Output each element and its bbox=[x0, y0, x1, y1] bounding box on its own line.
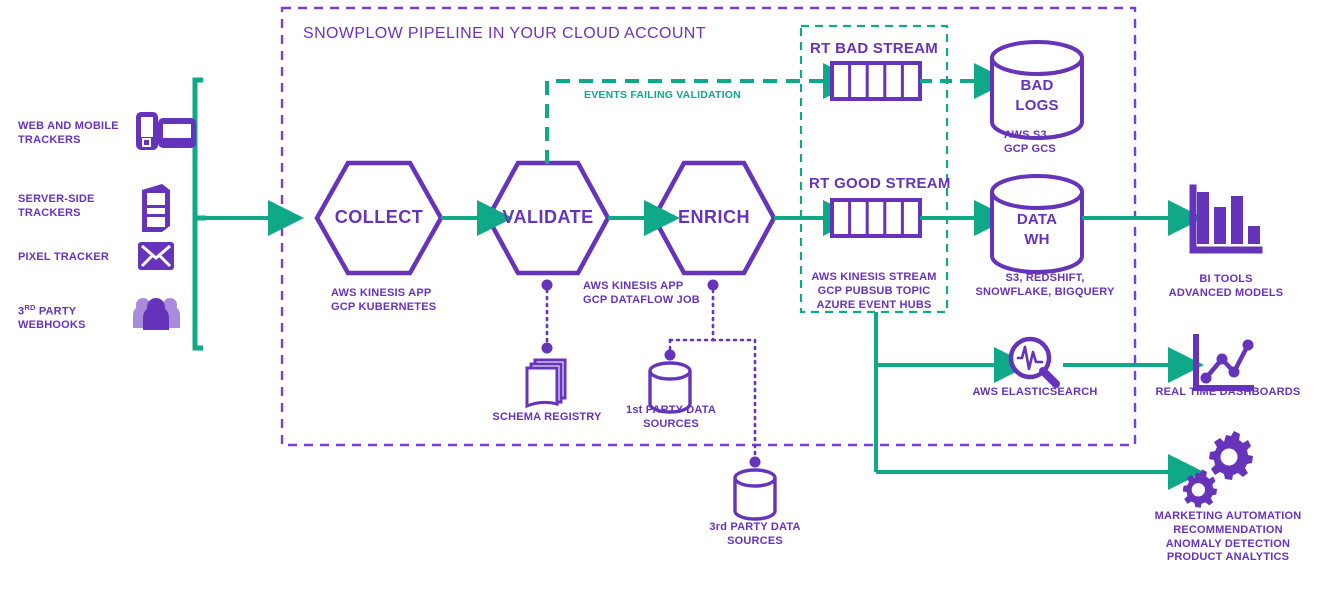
server-icon bbox=[142, 184, 170, 232]
edge-label-events-failing-validation: EVENTS FAILING VALIDATION bbox=[584, 89, 741, 101]
people-icon bbox=[133, 298, 180, 330]
data-wh-sublabel: S3, REDSHIFT, SNOWFLAKE, BIGQUERY bbox=[955, 272, 1135, 300]
first-party-line1: 1st PARTY DATA bbox=[612, 404, 730, 418]
documents-icon bbox=[527, 360, 565, 406]
first-party-data-label: 1st PARTY DATA SOURCES bbox=[612, 404, 730, 432]
stage-sub-validate: AWS KINESIS APP GCP DATAFLOW JOB bbox=[583, 280, 743, 308]
connector-dot-schema-registry bbox=[542, 343, 553, 354]
stage-label-enrich: ENRICH bbox=[654, 207, 774, 228]
bar-chart-icon bbox=[1193, 188, 1260, 250]
bad-stream-title: RT BAD STREAM bbox=[810, 40, 938, 57]
line-chart-icon bbox=[1196, 337, 1254, 388]
realtime-dashboards-label: REAL TIME DASHBOARDS bbox=[1142, 386, 1314, 400]
marketing-automation-label: MARKETING AUTOMATION RECOMMENDATION ANOM… bbox=[1142, 510, 1314, 565]
connector-dot-third-party bbox=[750, 457, 761, 468]
bad-logs-sub1: AWS S3 bbox=[1004, 129, 1144, 143]
source-label-server-side: SERVER-SIDE TRACKERS bbox=[18, 193, 128, 221]
source-label-line1: 3RD PARTY bbox=[18, 303, 128, 319]
first-party-line2: SOURCES bbox=[612, 418, 730, 432]
source-label-line2: WEBHOOKS bbox=[18, 319, 128, 333]
stream-platform-line2: GCP PUBSUB TOPIC bbox=[801, 285, 947, 299]
source-label-pixel-tracker: PIXEL TRACKER bbox=[18, 251, 138, 265]
source-label-web-mobile: WEB AND MOBILE TRACKERS bbox=[18, 120, 128, 148]
devices-icon bbox=[136, 112, 196, 150]
data-wh-line2: WH bbox=[992, 230, 1082, 250]
bad-logs-sublabel: AWS S3 GCP GCS bbox=[1004, 129, 1144, 157]
search-pulse-icon bbox=[1011, 339, 1056, 384]
realtime-dashboards-line1: REAL TIME DASHBOARDS bbox=[1142, 386, 1314, 400]
marketing-line1: MARKETING AUTOMATION bbox=[1142, 510, 1314, 524]
data-wh-label: DATA WH bbox=[992, 210, 1082, 251]
data-wh-sub1: S3, REDSHIFT, bbox=[955, 272, 1135, 286]
diagram-canvas: SNOWPLOW PIPELINE IN YOUR CLOUD ACCOUNT … bbox=[0, 0, 1317, 592]
database-icon-third-party bbox=[735, 470, 775, 519]
third-party-line1: 3rd PARTY DATA bbox=[696, 521, 814, 535]
stage-sub-line1: AWS KINESIS APP bbox=[331, 287, 481, 301]
marketing-line2: RECOMMENDATION bbox=[1142, 524, 1314, 538]
bad-logs-sub2: GCP GCS bbox=[1004, 143, 1144, 157]
marketing-line4: PRODUCT ANALYTICS bbox=[1142, 551, 1314, 565]
bi-tools-line2: ADVANCED MODELS bbox=[1148, 287, 1304, 301]
source-label-line2: TRACKERS bbox=[18, 134, 128, 148]
stage-sub-line2: GCP KUBERNETES bbox=[331, 301, 481, 315]
connector-dot-first-party bbox=[665, 350, 676, 361]
good-stream-title: RT GOOD STREAM bbox=[809, 175, 951, 192]
schema-registry-label: SCHEMA REGISTRY bbox=[485, 411, 609, 425]
bad-stream-queue bbox=[832, 63, 920, 99]
source-label-sup: RD bbox=[24, 303, 35, 312]
sources-bracket bbox=[195, 80, 203, 348]
source-label-line1: SERVER-SIDE bbox=[18, 193, 128, 207]
data-wh-sub2: SNOWFLAKE, BIGQUERY bbox=[955, 286, 1135, 300]
bi-tools-line1: BI TOOLS bbox=[1148, 273, 1304, 287]
schema-registry-line1: SCHEMA REGISTRY bbox=[485, 411, 609, 425]
source-label-third-party-webhooks: 3RD PARTY WEBHOOKS bbox=[18, 303, 128, 333]
stage-label-validate: VALIDATE bbox=[488, 207, 608, 228]
source-label-line1: PIXEL TRACKER bbox=[18, 251, 138, 265]
data-wh-line1: DATA bbox=[992, 210, 1082, 230]
bad-logs-label: BAD LOGS bbox=[992, 76, 1082, 117]
stream-platform-line3: AZURE EVENT HUBS bbox=[801, 299, 947, 313]
bi-tools-label: BI TOOLS ADVANCED MODELS bbox=[1148, 273, 1304, 301]
third-party-line2: SOURCES bbox=[696, 535, 814, 549]
elasticsearch-label: AWS ELASTICSEARCH bbox=[955, 386, 1115, 400]
stream-platform-line1: AWS KINESIS STREAM bbox=[801, 271, 947, 285]
stream-platform-labels: AWS KINESIS STREAM GCP PUBSUB TOPIC AZUR… bbox=[801, 271, 947, 312]
page-title: SNOWPLOW PIPELINE IN YOUR CLOUD ACCOUNT bbox=[303, 25, 706, 43]
gears-icon bbox=[1183, 431, 1253, 508]
stage-sub-line2: GCP DATAFLOW JOB bbox=[583, 294, 743, 308]
envelope-icon bbox=[138, 242, 174, 270]
third-party-data-label: 3rd PARTY DATA SOURCES bbox=[696, 521, 814, 549]
stage-label-collect: COLLECT bbox=[317, 207, 441, 228]
source-label-line1: WEB AND MOBILE bbox=[18, 120, 128, 134]
good-stream-queue bbox=[832, 200, 920, 236]
bad-logs-line1: BAD bbox=[992, 76, 1082, 96]
marketing-line3: ANOMALY DETECTION bbox=[1142, 538, 1314, 552]
stage-sub-collect: AWS KINESIS APP GCP KUBERNETES bbox=[331, 287, 481, 315]
stage-sub-line1: AWS KINESIS APP bbox=[583, 280, 743, 294]
bad-logs-line2: LOGS bbox=[992, 96, 1082, 116]
source-label-line2: TRACKERS bbox=[18, 207, 128, 221]
